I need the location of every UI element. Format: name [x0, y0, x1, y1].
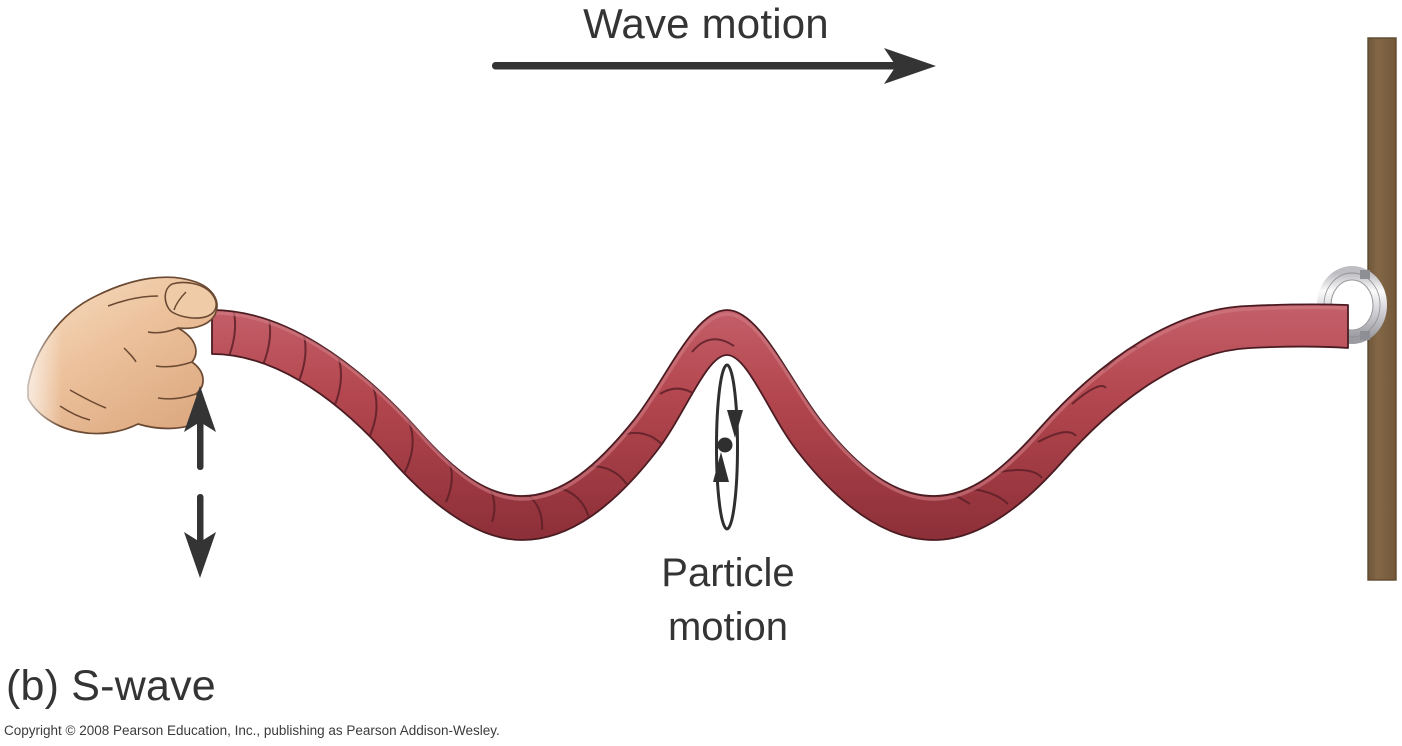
ring-mount-top: [1360, 270, 1370, 279]
particle-orbit-indicator: [713, 365, 743, 529]
down-arrow-icon: [184, 494, 216, 578]
orbit-down-arrow-icon: [727, 410, 743, 438]
wave-arrow-shaft: [492, 62, 900, 70]
figure-canvas: Wave motion Particle motion (b) S-wave C…: [0, 0, 1402, 746]
particle-dot: [718, 438, 733, 453]
hand-gripping-rope: [0, 277, 217, 442]
wave-motion-label: Wave motion: [0, 0, 1402, 48]
thumb: [165, 282, 216, 318]
wrist-fade: [0, 330, 62, 442]
wave-motion-arrow: [492, 48, 936, 84]
panel-caption: (b) S-wave: [6, 662, 216, 711]
copyright-notice: Copyright © 2008 Pearson Education, Inc.…: [4, 723, 500, 738]
particle-motion-label: Particle motion: [608, 546, 848, 654]
rope: [212, 287, 1348, 540]
rope-body: [212, 304, 1348, 540]
ring-mount-bottom: [1360, 331, 1370, 340]
